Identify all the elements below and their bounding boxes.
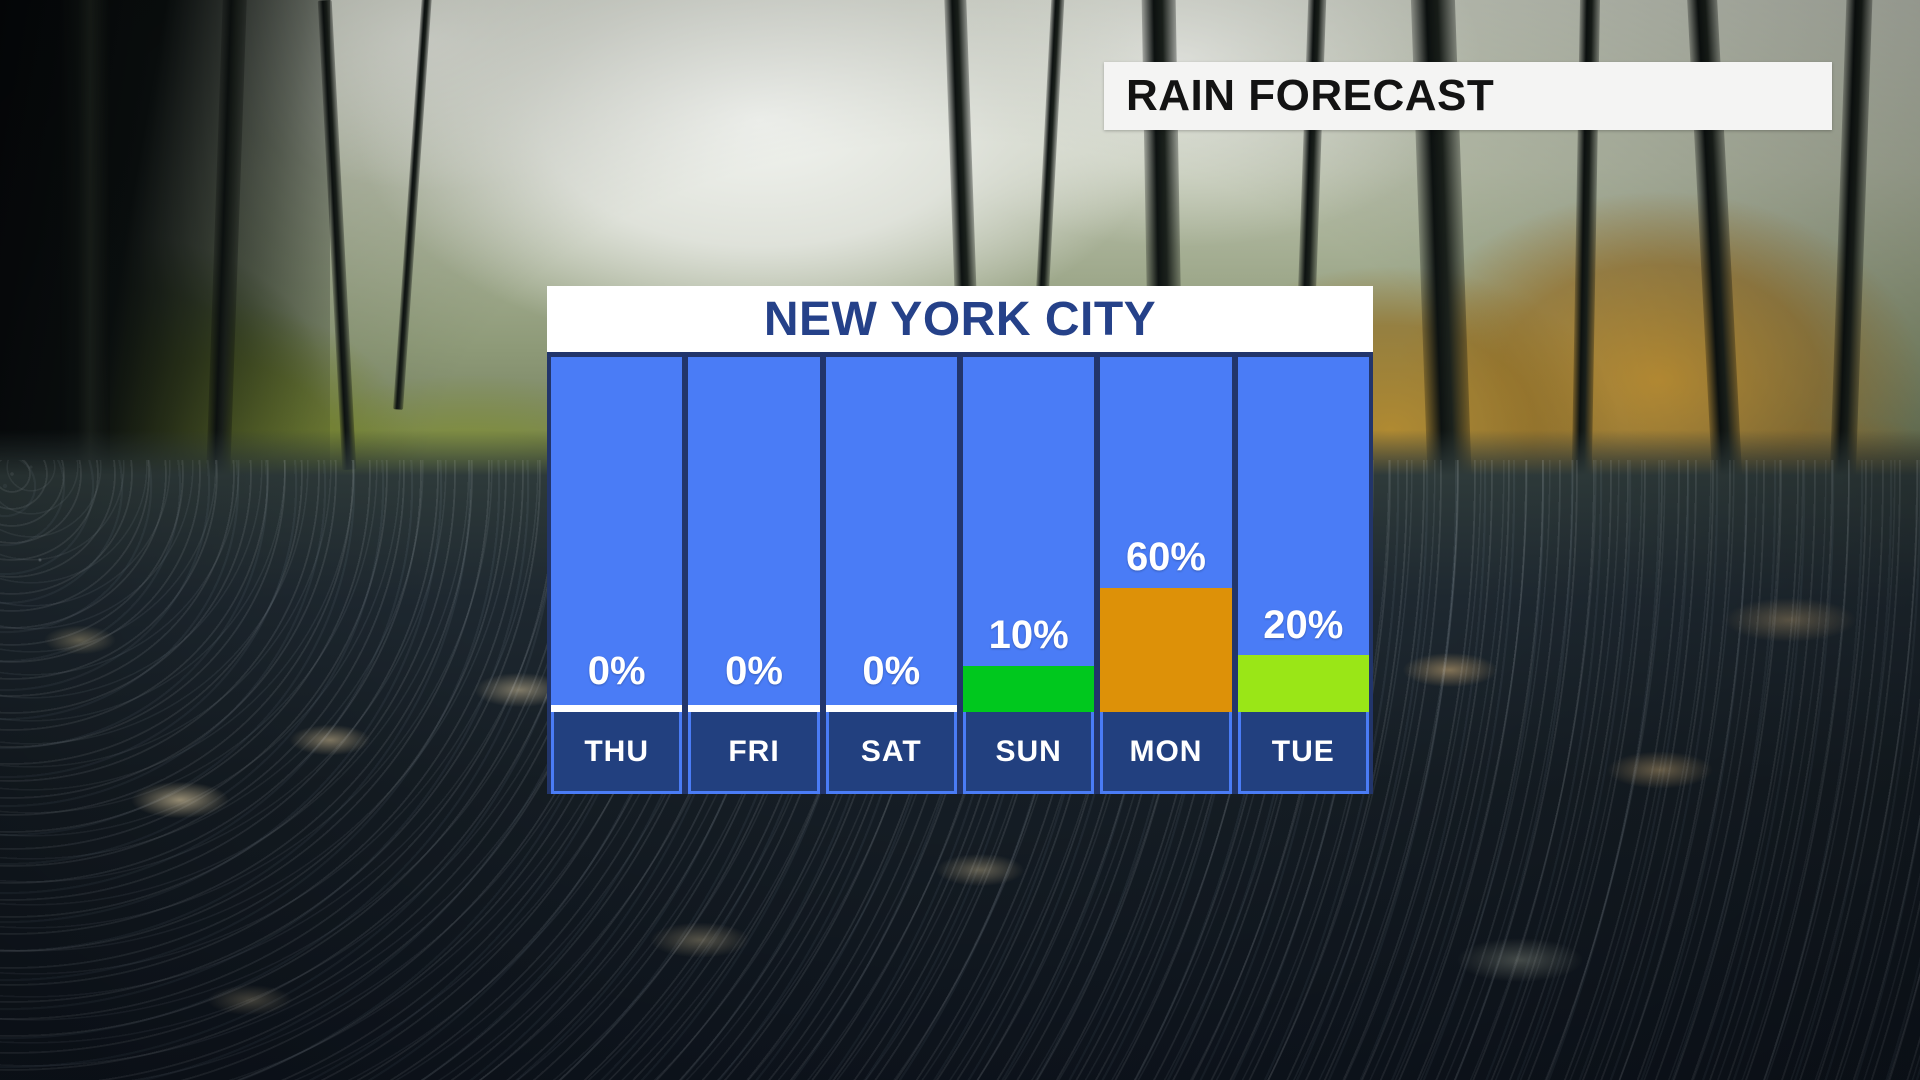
day-label-box: SUN: [963, 712, 1094, 794]
bar-plot-area: 60%: [1100, 357, 1231, 712]
day-label-box: MON: [1100, 712, 1231, 794]
bar-plot-area: 0%: [688, 357, 819, 712]
day-label-box: SAT: [826, 712, 957, 794]
screen: RAIN FORECAST NEW YORK CITY 0%THU0%FRI0%…: [0, 0, 1920, 1080]
day-label: SAT: [861, 735, 922, 769]
forecast-column-thu[interactable]: 0%THU: [547, 357, 685, 794]
bar-value-label: 10%: [963, 615, 1094, 655]
bar-plot-area: 0%: [826, 357, 957, 712]
city-title: NEW YORK CITY: [764, 292, 1156, 347]
bar-value-label: 20%: [1238, 605, 1369, 645]
panel-header: NEW YORK CITY: [547, 286, 1373, 352]
bar-fill: [1100, 588, 1231, 712]
day-label: TUE: [1272, 735, 1335, 769]
forecast-column-sat[interactable]: 0%SAT: [823, 357, 960, 794]
forecast-column-sun[interactable]: 10%SUN: [960, 357, 1097, 794]
bar-plot-area: 20%: [1238, 357, 1369, 712]
banner-title: RAIN FORECAST: [1126, 71, 1494, 121]
forecast-column-mon[interactable]: 60%MON: [1097, 357, 1234, 794]
bar-value-label: 0%: [826, 651, 957, 691]
bar-plot-area: 10%: [963, 357, 1094, 712]
bar-fill: [551, 705, 682, 712]
bar-value-label: 60%: [1100, 537, 1231, 577]
bar-fill: [826, 705, 957, 712]
bar-value-label: 0%: [688, 651, 819, 691]
rain-chance-bar-chart: 0%THU0%FRI0%SAT10%SUN60%MON20%TUE: [547, 357, 1373, 794]
day-label: SUN: [995, 735, 1061, 769]
forecast-column-fri[interactable]: 0%FRI: [685, 357, 822, 794]
bar-fill: [963, 666, 1094, 712]
day-label-box: FRI: [688, 712, 819, 794]
forecast-panel: NEW YORK CITY 0%THU0%FRI0%SAT10%SUN60%MO…: [547, 286, 1373, 794]
bar-fill: [1238, 655, 1369, 712]
day-label: MON: [1129, 735, 1202, 769]
bar-fill: [688, 705, 819, 712]
bar-value-label: 0%: [551, 651, 682, 691]
day-label: FRI: [728, 735, 779, 769]
day-label-box: THU: [551, 712, 682, 794]
day-label: THU: [584, 735, 649, 769]
forecast-column-tue[interactable]: 20%TUE: [1235, 357, 1373, 794]
bar-plot-area: 0%: [551, 357, 682, 712]
rain-forecast-banner: RAIN FORECAST: [1104, 62, 1832, 130]
day-label-box: TUE: [1238, 712, 1369, 794]
